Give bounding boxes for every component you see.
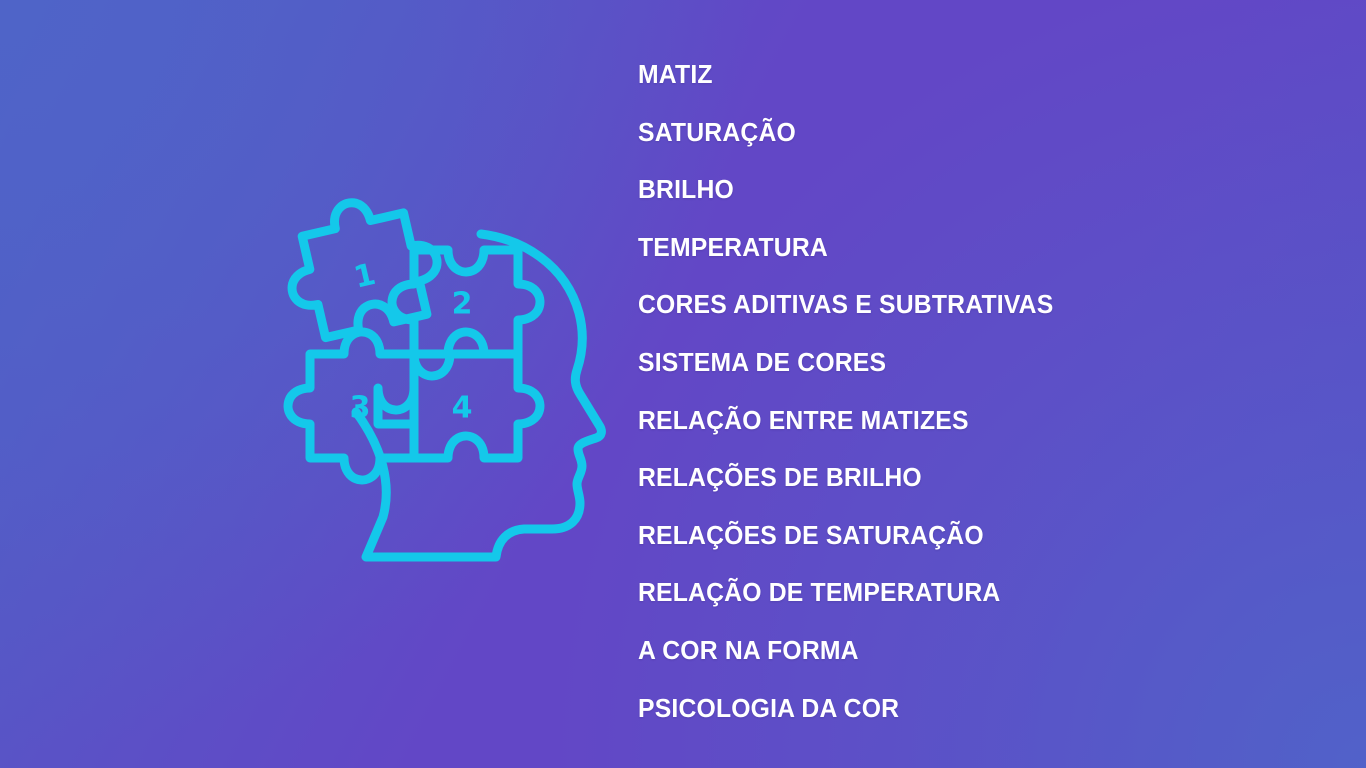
- topic-item-temperatura[interactable]: TEMPERATURA: [638, 220, 1298, 278]
- topic-label: RELAÇÃO DE TEMPERATURA: [638, 581, 1000, 607]
- topic-label: RELAÇÕES DE SATURAÇÃO: [638, 524, 984, 550]
- head-puzzle-illustration: 1 2 3 4: [262, 172, 632, 562]
- puzzle-piece-4: [414, 354, 540, 458]
- topic-item-relacao-entre-matizes[interactable]: RELAÇÃO ENTRE MATIZES: [638, 393, 1298, 451]
- topic-label: RELAÇÕES DE BRILHO: [638, 466, 922, 492]
- topic-label: SISTEMA DE CORES: [638, 351, 886, 377]
- slide-canvas: 1 2 3 4 MATIZ SATURAÇÃO BRILHO TEMPERATU…: [0, 0, 1366, 768]
- puzzle-piece-1-number: 1: [351, 257, 379, 296]
- topic-label: RELAÇÃO ENTRE MATIZES: [638, 409, 969, 435]
- topic-label: SATURAÇÃO: [638, 121, 796, 147]
- topic-item-psicologia-da-cor[interactable]: PSICOLOGIA DA COR: [638, 681, 1298, 739]
- topic-list: MATIZ SATURAÇÃO BRILHO TEMPERATURA CORES…: [638, 47, 1298, 738]
- topic-item-matiz[interactable]: MATIZ: [638, 47, 1298, 105]
- puzzle-piece-4-number: 4: [452, 391, 473, 426]
- topic-item-brilho[interactable]: BRILHO: [638, 162, 1298, 220]
- puzzle-piece-1-group: 1: [276, 187, 448, 343]
- topic-label: CORES ADITIVAS E SUBTRATIVAS: [638, 293, 1053, 319]
- topic-label: TEMPERATURA: [638, 236, 828, 262]
- topic-item-a-cor-na-forma[interactable]: A COR NA FORMA: [638, 623, 1298, 681]
- topic-item-relacoes-de-saturacao[interactable]: RELAÇÕES DE SATURAÇÃO: [638, 508, 1298, 566]
- puzzle-piece-3-number: 3: [350, 391, 371, 426]
- topic-item-cores-aditivas-e-subtrativas[interactable]: CORES ADITIVAS E SUBTRATIVAS: [638, 277, 1298, 335]
- topic-label: MATIZ: [638, 63, 713, 89]
- topic-item-sistema-de-cores[interactable]: SISTEMA DE CORES: [638, 335, 1298, 393]
- topic-item-relacoes-de-brilho[interactable]: RELAÇÕES DE BRILHO: [638, 450, 1298, 508]
- topic-label: BRILHO: [638, 178, 734, 204]
- topic-item-saturacao[interactable]: SATURAÇÃO: [638, 105, 1298, 163]
- topic-label: PSICOLOGIA DA COR: [638, 697, 899, 723]
- topic-label: A COR NA FORMA: [638, 639, 859, 665]
- puzzle-piece-2-number: 2: [452, 287, 473, 322]
- head-profile-path: [356, 234, 601, 557]
- topic-item-relacao-de-temperatura[interactable]: RELAÇÃO DE TEMPERATURA: [638, 565, 1298, 623]
